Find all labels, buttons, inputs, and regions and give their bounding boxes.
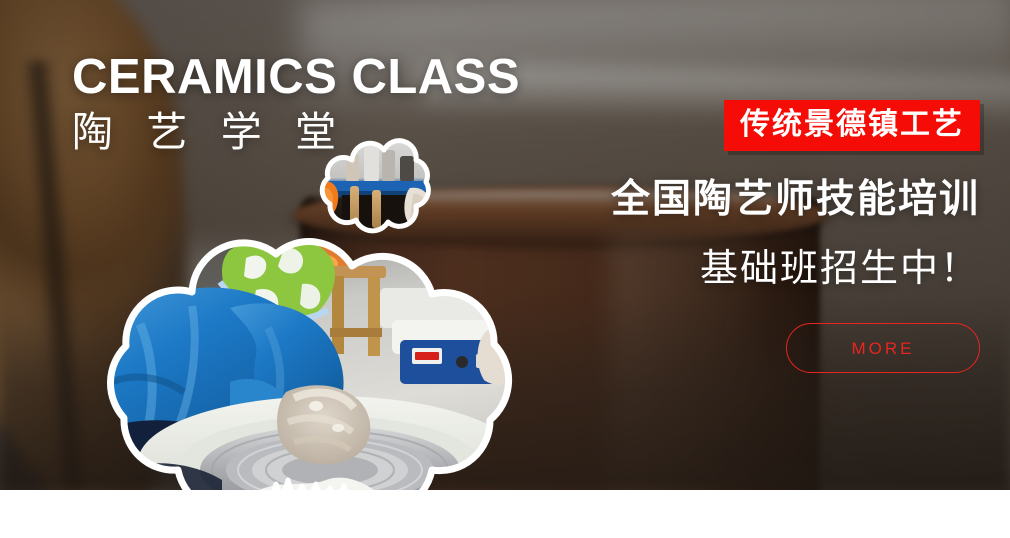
page-title-chinese: 陶 艺 学 堂 xyxy=(72,108,520,156)
cloud-bubble-large-photo xyxy=(80,232,536,528)
page-title-english: CERAMICS CLASS xyxy=(72,50,520,104)
bottom-white-strip xyxy=(0,490,1010,538)
cloud-bubble-large xyxy=(80,232,536,522)
promo-headline-primary: 全国陶艺师技能培训 xyxy=(560,177,980,223)
promo-headline-secondary: 基础班招生中！ xyxy=(560,247,980,291)
ceramics-class-banner: CERAMICS CLASS 陶 艺 学 堂 xyxy=(0,0,1010,538)
more-button[interactable]: MORE xyxy=(786,323,980,373)
promo-column: 传统景德镇工艺 全国陶艺师技能培训 基础班招生中！ MORE xyxy=(560,100,980,373)
headline-block: CERAMICS CLASS 陶 艺 学 堂 xyxy=(72,50,520,156)
badge-row: 传统景德镇工艺 xyxy=(560,100,980,151)
more-button-row: MORE xyxy=(560,323,980,373)
cloud-bubble-small xyxy=(312,134,440,238)
cloud-bubble-small-photo xyxy=(312,134,440,238)
status-badge: 传统景德镇工艺 xyxy=(724,100,980,151)
